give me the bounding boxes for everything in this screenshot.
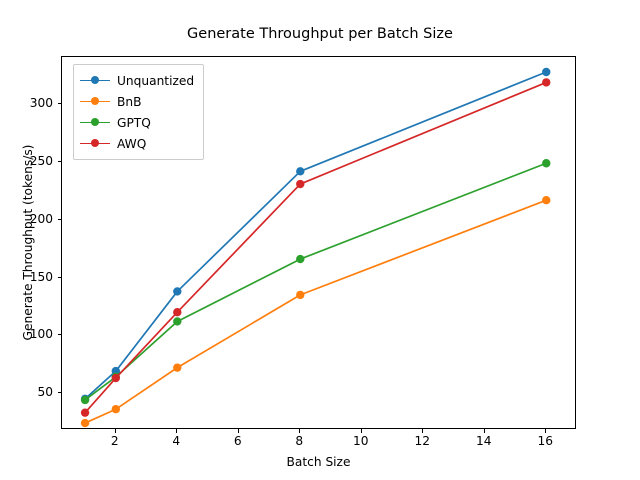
x-tick-mark (115, 429, 116, 433)
x-tick-label: 2 (111, 434, 119, 448)
data-point-marker (81, 396, 89, 404)
legend-swatch-icon (80, 116, 110, 130)
chart-legend: UnquantizedBnBGPTQAWQ (73, 64, 204, 160)
x-tick-mark (422, 429, 423, 433)
x-tick-mark (361, 429, 362, 433)
data-point-marker (173, 317, 181, 325)
x-tick-mark (299, 429, 300, 433)
data-point-marker (81, 419, 89, 427)
x-tick-label: 12 (415, 434, 431, 448)
data-point-marker (542, 159, 550, 167)
data-point-marker (296, 255, 304, 263)
y-tick-mark (58, 277, 62, 278)
data-point-marker (296, 167, 304, 175)
x-tick-mark (484, 429, 485, 433)
legend-item-unquantized: Unquantized (80, 70, 194, 91)
x-tick-mark (176, 429, 177, 433)
x-tick-label: 14 (476, 434, 492, 448)
data-point-marker (296, 180, 304, 188)
y-tick-mark (58, 161, 62, 162)
y-tick-mark (58, 103, 62, 104)
chart-title: Generate Throughput per Batch Size (0, 26, 640, 42)
y-axis-label: Generate Throughput (tokens/s) (20, 56, 36, 429)
series-line-gptq (81, 159, 551, 404)
series-line-bnb (81, 196, 551, 427)
legend-label: Unquantized (117, 74, 194, 88)
data-point-marker (112, 405, 120, 413)
legend-item-bnb: BnB (80, 91, 194, 112)
data-point-marker (173, 363, 181, 371)
x-tick-mark (545, 429, 546, 433)
data-point-marker (112, 374, 120, 382)
data-point-marker (542, 78, 550, 86)
legend-label: AWQ (117, 137, 146, 151)
data-point-marker (542, 196, 550, 204)
series-path (85, 200, 546, 423)
legend-label: GPTQ (117, 116, 151, 130)
x-tick-mark (238, 429, 239, 433)
y-tick-mark (58, 392, 62, 393)
chart-figure: Generate Throughput per Batch Size 50100… (0, 0, 640, 480)
data-point-marker (81, 408, 89, 416)
x-tick-label: 10 (353, 434, 369, 448)
legend-label: BnB (117, 95, 141, 109)
data-point-marker (296, 291, 304, 299)
x-tick-label: 6 (234, 434, 242, 448)
data-point-marker (542, 68, 550, 76)
legend-swatch-icon (80, 137, 110, 151)
y-tick-mark (58, 334, 62, 335)
legend-swatch-icon (80, 74, 110, 88)
data-point-marker (173, 308, 181, 316)
x-tick-label: 16 (537, 434, 553, 448)
x-tick-label: 4 (172, 434, 180, 448)
legend-item-awq: AWQ (80, 133, 194, 154)
legend-item-gptq: GPTQ (80, 112, 194, 133)
x-axis-label: Batch Size (61, 455, 576, 469)
data-point-marker (173, 287, 181, 295)
y-tick-mark (58, 219, 62, 220)
y-tick-label: 50 (37, 385, 53, 399)
x-tick-label: 8 (295, 434, 303, 448)
series-path (85, 163, 546, 400)
legend-swatch-icon (80, 95, 110, 109)
